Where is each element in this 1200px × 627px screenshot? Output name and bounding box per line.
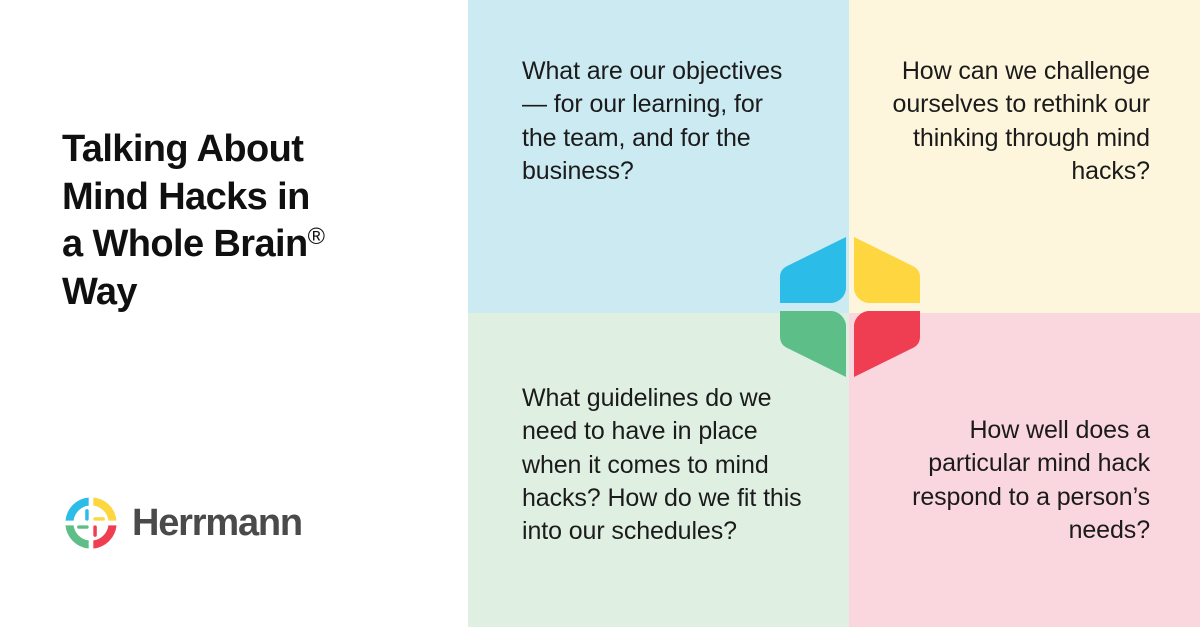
registered-trademark-symbol: ® — [308, 223, 325, 249]
quadrant-upper-left-blue: What are our objectives — for our learni… — [468, 0, 849, 313]
quadrant-upper-right-text: How can we challenge ourselves to rethin… — [873, 55, 1150, 188]
quadrant-lower-left-green: What guidelines do we need to have in pl… — [468, 313, 849, 627]
page-title: Talking AboutMind Hacks ina Whole Brain®… — [62, 126, 442, 316]
brand-logo: Herrmann — [62, 494, 302, 552]
infographic-canvas: Talking AboutMind Hacks ina Whole Brain®… — [0, 0, 1200, 627]
herrmann-circle-logo-icon — [62, 494, 120, 552]
page-title-line-4: Way — [62, 271, 137, 313]
page-title-line-1: Talking About — [62, 128, 303, 170]
quadrant-upper-right-yellow: How can we challenge ourselves to rethin… — [849, 0, 1200, 313]
quadrant-lower-right-red: How well does a particular mind hack res… — [849, 313, 1200, 627]
page-title-line-2: Mind Hacks in — [62, 176, 310, 218]
quadrant-lower-left-text: What guidelines do we need to have in pl… — [522, 382, 819, 548]
whole-brain-quadrant-grid: What are our objectives — for our learni… — [468, 0, 1200, 627]
quadrant-lower-right-text: How well does a particular mind hack res… — [873, 414, 1150, 547]
brand-wordmark: Herrmann — [132, 504, 302, 542]
title-panel: Talking AboutMind Hacks ina Whole Brain®… — [0, 0, 468, 627]
page-title-line-3: a Whole Brain — [62, 223, 308, 265]
quadrant-upper-left-text: What are our objectives — for our learni… — [522, 55, 791, 188]
